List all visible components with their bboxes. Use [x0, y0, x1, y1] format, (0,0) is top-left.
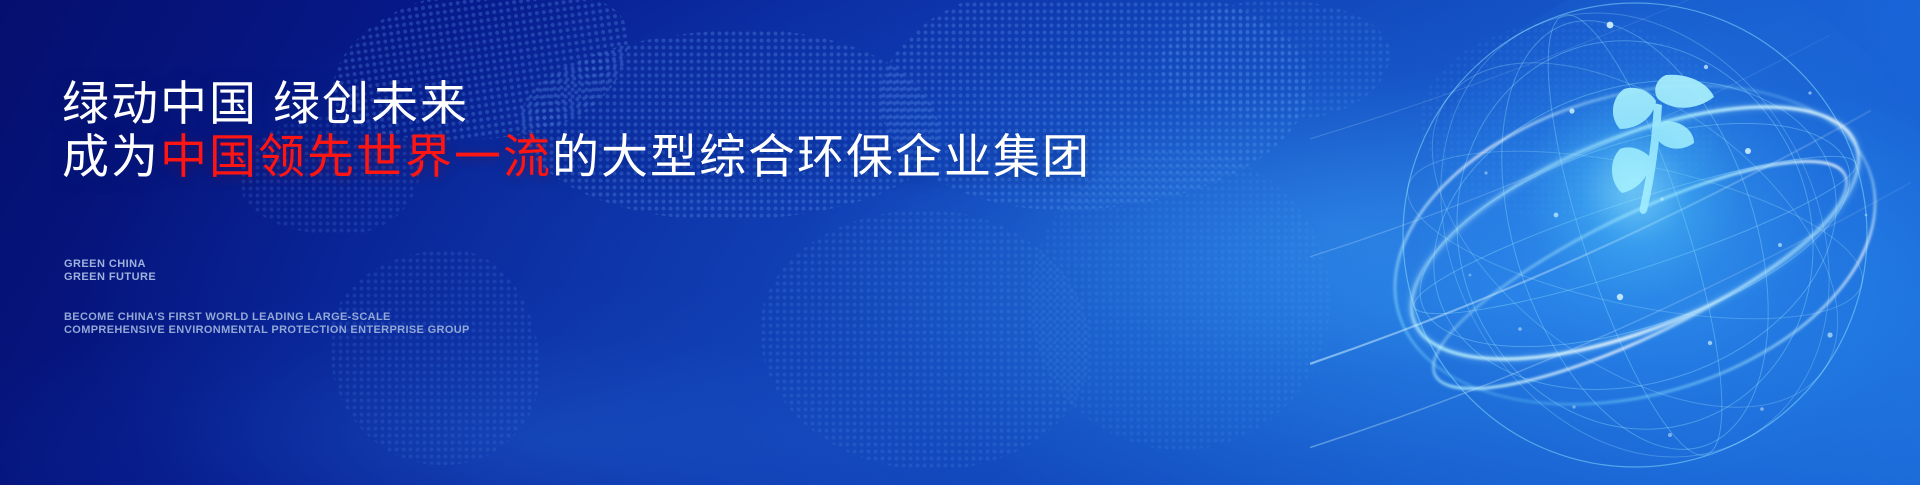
subcopy-line-1: BECOME CHINA'S FIRST WORLD LEADING LARGE…: [64, 311, 470, 324]
subcopy-line-2: COMPREHENSIVE ENVIRONMENTAL PROTECTION E…: [64, 324, 470, 337]
headline-line-2-prefix: 成为: [62, 130, 160, 183]
tagline: GREEN CHINA GREEN FUTURE: [64, 258, 156, 284]
headline-line-2: 成为中国领先世界一流的大型综合环保企业集团: [62, 133, 1091, 180]
sprout-icon: [1612, 75, 1714, 214]
map-dot-cluster: [1030, 150, 1330, 450]
headline-line-2-highlight: 中国领先世界一流: [160, 130, 552, 183]
globe-graphic: [1310, 0, 1920, 485]
subcopy: BECOME CHINA'S FIRST WORLD LEADING LARGE…: [64, 311, 470, 337]
headline-line-1: 绿动中国 绿创未来: [62, 80, 469, 127]
tagline-line-1: GREEN CHINA: [64, 258, 156, 271]
tagline-line-2: GREEN FUTURE: [64, 271, 156, 284]
hero-banner: 绿动中国 绿创未来 成为中国领先世界一流的大型综合环保企业集团 GREEN CH…: [0, 0, 1920, 485]
map-dot-cluster: [1160, 0, 1390, 120]
headline-line-2-suffix: 的大型综合环保企业集团: [552, 130, 1091, 183]
wireframe-globe: [1310, 0, 1920, 485]
banner-copy: 绿动中国 绿创未来 成为中国领先世界一流的大型综合环保企业集团 GREEN CH…: [62, 0, 1062, 485]
globe-glow: [1420, 0, 1920, 485]
headline-line-1-text: 绿动中国 绿创未来: [62, 77, 469, 130]
map-dot-cluster: [1420, 20, 1720, 220]
globe-core-glow: [1525, 80, 1745, 300]
